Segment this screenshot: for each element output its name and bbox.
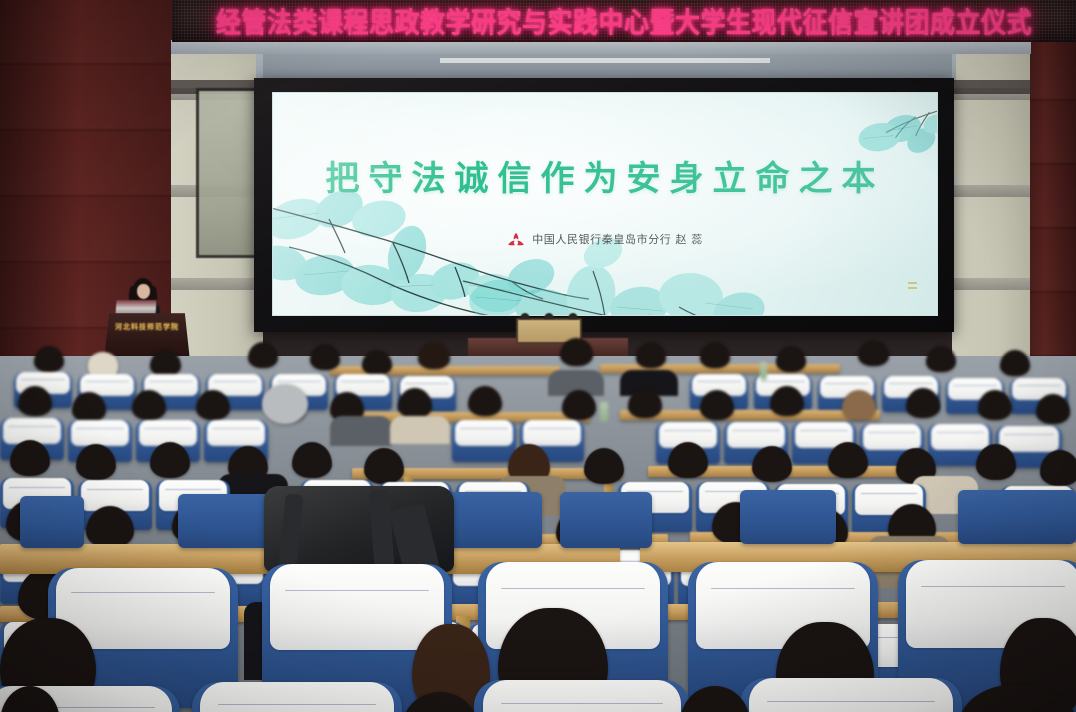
audience-head [418, 342, 450, 369]
audience-head [562, 390, 596, 420]
audience-head [858, 340, 889, 366]
leaf-decoration-bottom-middle [453, 211, 783, 316]
audience-head [34, 346, 64, 372]
leaf-decoration-bottom-left [272, 189, 589, 316]
audience-head [700, 390, 734, 420]
podium: 河北科技师范学院 [104, 313, 190, 361]
slide-title: 把守法诚信作为安身立命之本 [273, 151, 937, 200]
audience-head [560, 338, 593, 366]
wall-band [171, 278, 263, 290]
audience-head-with-hat [262, 384, 308, 424]
audience-head [770, 386, 804, 416]
audience-head [310, 344, 340, 370]
seat-nearest [474, 680, 690, 712]
audience-head [196, 390, 230, 420]
seat-back-exposed [740, 490, 836, 544]
podium-sign-text: 河北科技师范学院 [104, 322, 190, 332]
auditorium-photo: 经管法类课程思政教学研究与实践中心暨大学生现代征信宣讲团成立仪式 [0, 0, 1076, 712]
audience-head [468, 386, 502, 416]
audience-head [584, 448, 624, 484]
stage-microphones [518, 313, 580, 320]
seat-nearest [192, 682, 402, 712]
audience-head [150, 350, 181, 376]
audience-head [132, 390, 166, 420]
audience-head [76, 444, 116, 480]
audience-head [978, 390, 1012, 420]
audience-head [1040, 450, 1076, 486]
wall-band [952, 278, 1030, 290]
led-banner: 经管法类课程思政教学研究与实践中心暨大学生现代征信宣讲团成立仪式 [172, 0, 1076, 42]
audience-head [150, 442, 190, 478]
seat-nearest [740, 678, 962, 712]
audience-head [248, 342, 278, 368]
slide-corner-marks [908, 282, 917, 289]
podium-laptop [115, 300, 156, 315]
audience-head [628, 388, 662, 418]
slide-subtitle-row: 中国人民银行秦皇岛市分行 赵 蕊 [273, 231, 937, 247]
audience-head [292, 442, 332, 478]
audience-head [668, 442, 708, 478]
water-bottle [760, 362, 767, 380]
led-banner-text: 经管法类课程思政教学研究与实践中心暨大学生现代征信宣讲团成立仪式 [216, 1, 1032, 41]
audience-head [976, 444, 1016, 480]
audience-head [926, 346, 956, 372]
wall-light-strip [440, 58, 770, 63]
audience-coat [330, 416, 392, 446]
seat-back-exposed [958, 490, 1076, 544]
pboc-logo-icon [507, 232, 525, 247]
audience-head [10, 440, 50, 476]
seat-back-exposed [560, 492, 652, 548]
audience-head [1036, 394, 1070, 424]
audience-head [398, 388, 432, 418]
slide-subtitle-text: 中国人民银行秦皇岛市分行 赵 蕊 [532, 231, 703, 247]
audience-coat [390, 416, 450, 444]
projection-screen-frame: 把守法诚信作为安身立命之本 中国人民银行秦皇岛市分行 赵 蕊 [254, 78, 954, 332]
seat [452, 420, 516, 462]
audience-head [700, 342, 730, 368]
audience-head [776, 346, 806, 372]
audience-head [72, 392, 106, 422]
audience-head [364, 448, 404, 484]
audience-head [752, 446, 792, 482]
audience-head [1000, 350, 1030, 376]
audience-head [842, 390, 876, 420]
audience-head [362, 350, 392, 375]
audience-head [828, 442, 868, 478]
speaker-face [137, 284, 150, 299]
audience-head [18, 386, 52, 416]
audience-head [906, 388, 940, 418]
seat-back-exposed [20, 496, 84, 548]
wall-panel-maroon-right [1024, 38, 1076, 368]
projection-screen: 把守法诚信作为安身立命之本 中国人民银行秦皇岛市分行 赵 蕊 [272, 92, 938, 316]
wall-trim-strip [171, 40, 1031, 54]
wall-band [952, 185, 1030, 197]
water-bottle [600, 402, 608, 422]
audience-head [636, 342, 666, 368]
auditorium-floor [0, 356, 1076, 712]
